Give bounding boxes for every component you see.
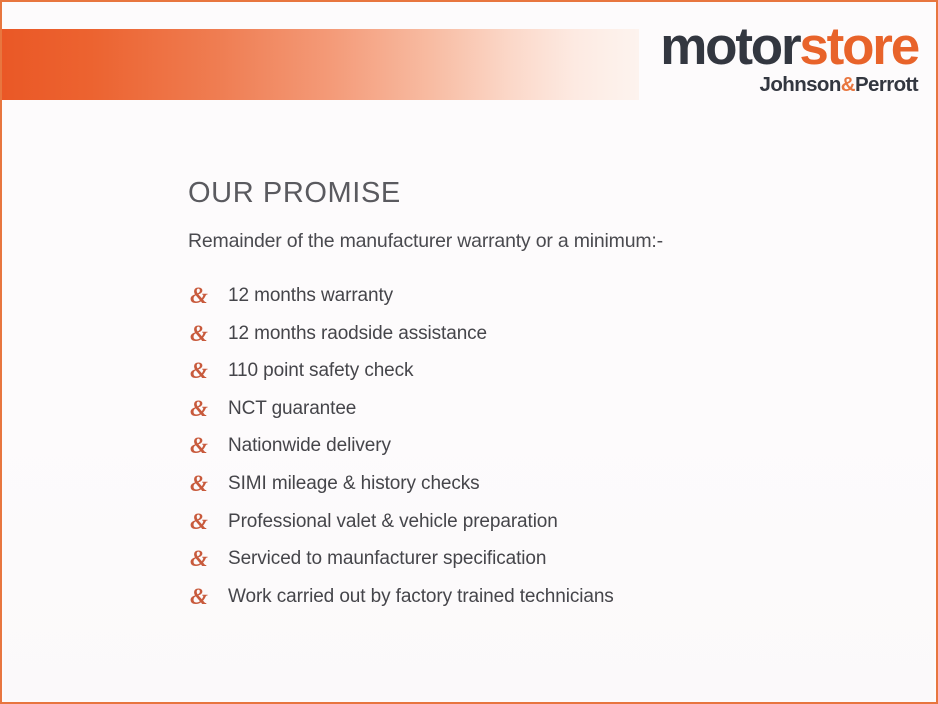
header-gradient-bar [2, 29, 639, 100]
list-item: & Work carried out by factory trained te… [188, 578, 888, 616]
list-item-label: 110 point safety check [228, 360, 413, 382]
ampersand-bullet-icon: & [188, 359, 212, 383]
list-item-label: 12 months raodside assistance [228, 323, 487, 345]
page-title: OUR PROMISE [188, 178, 888, 210]
svg-text:&: & [190, 434, 208, 458]
ampersand-bullet-icon: & [188, 472, 212, 496]
svg-text:&: & [190, 585, 208, 609]
logo-word-store: store [799, 17, 918, 76]
svg-text:&: & [190, 322, 208, 346]
promise-content: OUR PROMISE Remainder of the manufacture… [188, 178, 888, 616]
svg-text:&: & [190, 510, 208, 534]
logo-word-motor: motor [660, 17, 799, 76]
ampersand-bullet-icon: & [188, 547, 212, 571]
svg-text:&: & [190, 359, 208, 383]
ampersand-bullet-icon: & [188, 510, 212, 534]
logo-wordmark: motorstore [660, 20, 918, 73]
svg-text:&: & [190, 472, 208, 496]
promise-subtitle: Remainder of the manufacturer warranty o… [188, 230, 888, 253]
list-item-label: Serviced to maunfacturer specification [228, 548, 546, 570]
list-item-label: NCT guarantee [228, 398, 356, 420]
list-item-label: Nationwide delivery [228, 435, 391, 457]
svg-text:&: & [190, 397, 208, 421]
list-item: & 110 point safety check [188, 352, 888, 390]
ampersand-bullet-icon: & [188, 585, 212, 609]
ampersand-bullet-icon: & [188, 397, 212, 421]
ampersand-bullet-icon: & [188, 434, 212, 458]
list-item-label: SIMI mileage & history checks [228, 473, 480, 495]
list-item: & Nationwide delivery [188, 428, 888, 466]
list-item: & SIMI mileage & history checks [188, 465, 888, 503]
list-item-label: Work carried out by factory trained tech… [228, 586, 614, 608]
list-item: & NCT guarantee [188, 390, 888, 428]
brand-logo: motorstore Johnson&Perrott [660, 20, 918, 96]
list-item-label: Professional valet & vehicle preparation [228, 511, 558, 533]
svg-text:&: & [190, 284, 208, 308]
promise-list: & 12 months warranty & 12 months raodsid… [188, 277, 888, 615]
ampersand-bullet-icon: & [188, 322, 212, 346]
list-item-label: 12 months warranty [228, 285, 393, 307]
list-item: & Serviced to maunfacturer specification [188, 540, 888, 578]
logo-sub-perrott: Perrott [855, 73, 918, 96]
logo-sub-ampersand-icon: & [841, 73, 855, 96]
list-item: & 12 months raodside assistance [188, 315, 888, 353]
logo-sub-johnson: Johnson [760, 73, 841, 96]
svg-text:&: & [190, 547, 208, 571]
logo-subtitle: Johnson&Perrott [660, 75, 918, 96]
list-item: & Professional valet & vehicle preparati… [188, 503, 888, 541]
ampersand-bullet-icon: & [188, 284, 212, 308]
list-item: & 12 months warranty [188, 277, 888, 315]
promise-slide: motorstore Johnson&Perrott OUR PROMISE R… [0, 0, 938, 704]
